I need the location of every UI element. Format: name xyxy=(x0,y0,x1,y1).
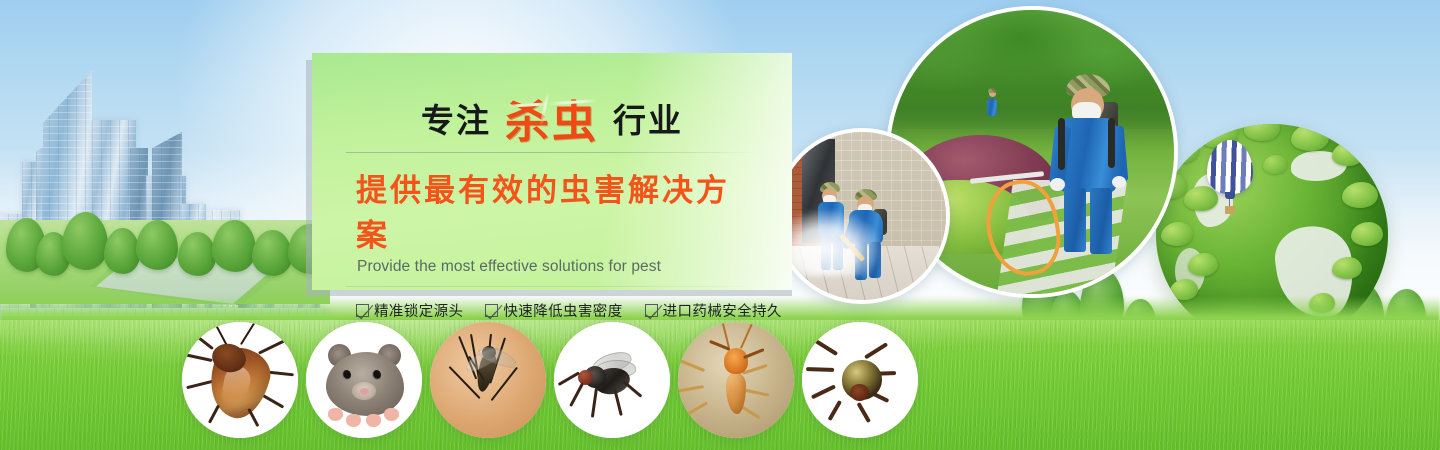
pest-circle-tick[interactable] xyxy=(802,322,918,438)
pest-circle-termite[interactable] xyxy=(678,322,794,438)
marketing-text-panel: 专注 杀虫 行业 提供最有效的虫害解决方案 Provide the most e… xyxy=(312,53,792,290)
subtitle-english: Provide the most effective solutions for… xyxy=(342,258,762,276)
headline-prefix: 专注 xyxy=(421,94,491,142)
feature-item: 快速降低虫害密度 xyxy=(485,300,622,321)
checkbox-checked-icon xyxy=(356,304,369,317)
pest-circle-fly[interactable] xyxy=(554,322,670,438)
headline-divider xyxy=(346,152,758,153)
pest-circle-rat[interactable] xyxy=(306,322,422,438)
hot-air-balloon-icon xyxy=(1207,140,1253,220)
pest-circle-mosquito[interactable] xyxy=(430,322,546,438)
feature-label: 快速降低虫害密度 xyxy=(503,300,622,321)
feature-item: 进口药械安全持久 xyxy=(645,300,782,321)
feature-list: 精准锁定源头 快速降低虫害密度 进口药械安全持久 xyxy=(342,300,762,321)
photo-workers-fogging xyxy=(774,128,950,304)
checkbox-checked-icon xyxy=(645,304,658,317)
pest-control-hero-banner: 专注 杀虫 行业 提供最有效的虫害解决方案 Provide the most e… xyxy=(0,0,1440,450)
feature-item: 精准锁定源头 xyxy=(356,300,463,321)
pest-gallery xyxy=(182,314,922,442)
subtitle-chinese: 提供最有效的虫害解决方案 xyxy=(342,165,762,255)
pest-circle-cockroach[interactable] xyxy=(182,322,298,438)
feature-label: 进口药械安全持久 xyxy=(663,300,782,321)
headline: 专注 杀虫 行业 xyxy=(342,91,762,145)
checkbox-checked-icon xyxy=(485,304,498,317)
feature-label: 精准锁定源头 xyxy=(374,300,463,321)
headline-accent-text: 杀虫 xyxy=(505,97,599,148)
headline-accent: 杀虫 xyxy=(505,86,599,150)
headline-suffix: 行业 xyxy=(613,94,683,142)
features-divider xyxy=(346,286,758,287)
